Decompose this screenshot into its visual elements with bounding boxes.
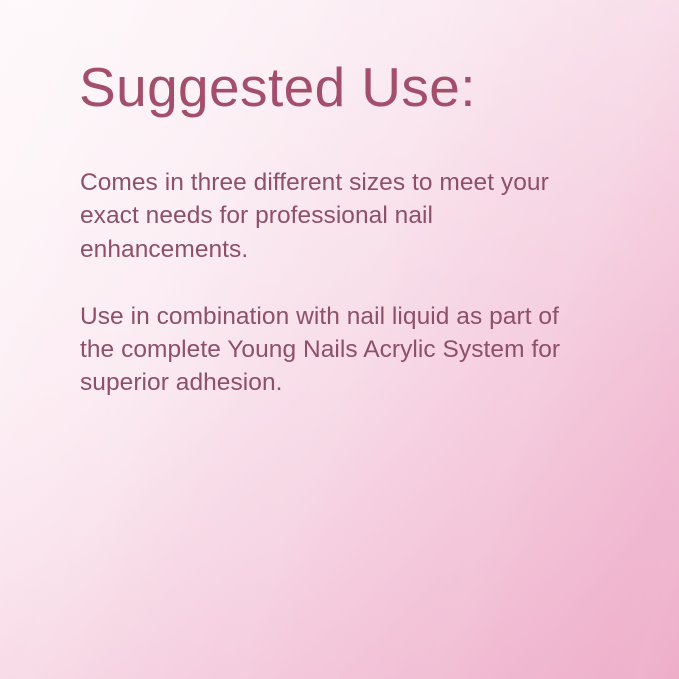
body-paragraph-2: Use in combination with nail liquid as p… [80,300,580,400]
content-column: Suggested Use: Comes in three different … [79,0,599,679]
body-text-block: Comes in three different sizes to meet y… [80,166,580,400]
product-info-panel: Suggested Use: Comes in three different … [0,0,679,679]
page-title: Suggested Use: [79,55,476,119]
body-paragraph-1: Comes in three different sizes to meet y… [80,166,580,266]
